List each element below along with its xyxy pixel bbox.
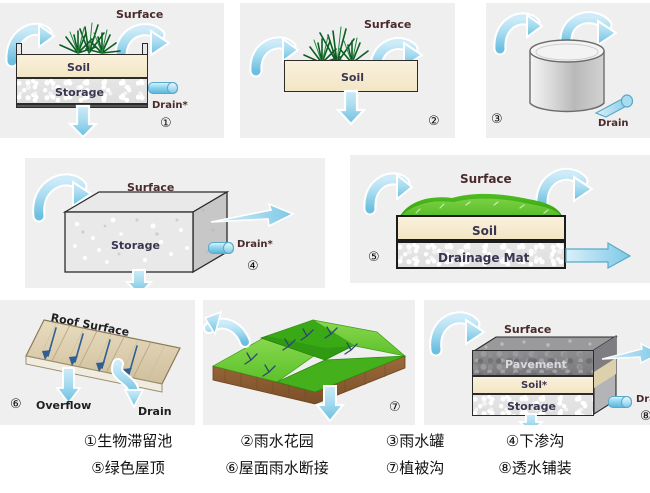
- panel-infiltration-trench: Surface: [25, 158, 325, 288]
- drain-pipe: [608, 396, 632, 408]
- caption-row-1: ①生物滞留池 ②雨水花园 ③雨水罐 ④下渗沟: [0, 430, 650, 451]
- panel-marker: ⑤: [368, 251, 380, 264]
- panel-marker: ③: [491, 113, 503, 126]
- caption-row-2: ⑤绿色屋顶 ⑥屋面雨水断接 ⑦植被沟 ⑧透水铺装: [0, 457, 650, 478]
- infiltration-arrow-down: [518, 414, 544, 425]
- label-drain: Drain: [138, 406, 172, 417]
- label-storage: Storage: [507, 401, 556, 412]
- label-drain: Drain*: [636, 395, 650, 405]
- infiltration-arrow-down: [336, 91, 366, 125]
- panel-marker: ②: [428, 115, 440, 128]
- caption-item-8: ⑧透水铺装: [489, 457, 581, 478]
- vegetation: [298, 21, 378, 65]
- storage-layer: Storage: [472, 394, 594, 416]
- label-surface: Surface: [504, 324, 551, 335]
- caption-item-4: ④下渗沟: [489, 430, 581, 451]
- panel-bioretention: Surface Soil Storage: [0, 3, 224, 138]
- soil-layer: Soil: [284, 60, 418, 92]
- caption-item-1: ①生物滞留池: [69, 430, 187, 451]
- lid-practices-figure: Surface Soil Storage: [0, 0, 650, 493]
- caption-item-2: ②雨水花园: [213, 430, 341, 451]
- label-drain: Drain: [598, 119, 629, 129]
- panel-marker: ⑦: [389, 401, 401, 414]
- overflow-arrow-right: [602, 344, 650, 366]
- drain-pipe: [148, 82, 178, 94]
- infiltration-arrow-down: [68, 106, 98, 138]
- label-drainage-mat: Drainage Mat: [438, 252, 529, 264]
- drain-pipe: [592, 93, 636, 119]
- label-soil: Soil: [341, 72, 364, 83]
- label-storage: Storage: [111, 240, 160, 251]
- caption-item-3: ③雨水罐: [367, 430, 463, 451]
- soil-layer: Soil: [396, 215, 566, 241]
- panel-green-roof: Surface Soil Drainage Mat ⑤: [350, 155, 650, 283]
- outflow-arrow-right: [566, 243, 632, 269]
- vegetation: [52, 15, 128, 55]
- outflow-arrow-down: [315, 386, 345, 422]
- storage-layer: Storage: [16, 78, 148, 104]
- panel-permeable-pavement: Surface Pavement Soil* Storage: [424, 300, 650, 425]
- panel-vegetative-swale: ⑦: [203, 300, 415, 425]
- label-storage: Storage: [55, 87, 104, 98]
- infiltration-arrow-down: [125, 270, 153, 288]
- caption-item-6: ⑥屋面雨水断接: [213, 457, 341, 478]
- drain-arrow: [110, 362, 154, 410]
- panel-rooftop-disconnection: Roof Surface Overflow Drain ⑥: [0, 300, 195, 425]
- caption-item-5: ⑤绿色屋顶: [69, 457, 187, 478]
- panel-rain-garden: Surface Soil ②: [240, 3, 455, 138]
- label-soil: Soil: [472, 225, 497, 237]
- label-overflow: Overflow: [36, 400, 91, 411]
- drainage-mat-layer: Drainage Mat: [396, 241, 566, 269]
- label-pavement: Pavement: [505, 359, 567, 370]
- drain-pipe: [208, 242, 234, 254]
- swale-terrain: [205, 308, 413, 414]
- pavement-layer: Pavement: [472, 350, 594, 376]
- label-surface: Surface: [460, 173, 512, 185]
- panel-marker: ⑥: [10, 398, 22, 411]
- panel-marker: ④: [247, 260, 259, 273]
- overflow-arrow-right: [211, 204, 295, 230]
- caption-item-7: ⑦植被沟: [367, 457, 463, 478]
- label-soil: Soil: [67, 62, 90, 73]
- label-drain: Drain*: [237, 240, 273, 250]
- label-drain: Drain*: [152, 101, 188, 111]
- soil-layer: Soil: [16, 54, 148, 78]
- soil-layer: Soil*: [472, 376, 594, 394]
- panel-rain-barrel: Drain ③: [486, 3, 650, 138]
- label-soil: Soil*: [521, 381, 547, 391]
- caption-block: ①生物滞留池 ②雨水花园 ③雨水罐 ④下渗沟 ⑤绿色屋顶 ⑥屋面雨水断接 ⑦植被…: [0, 430, 650, 484]
- panel-marker: ①: [160, 117, 172, 130]
- panel-marker: ⑧: [640, 410, 650, 423]
